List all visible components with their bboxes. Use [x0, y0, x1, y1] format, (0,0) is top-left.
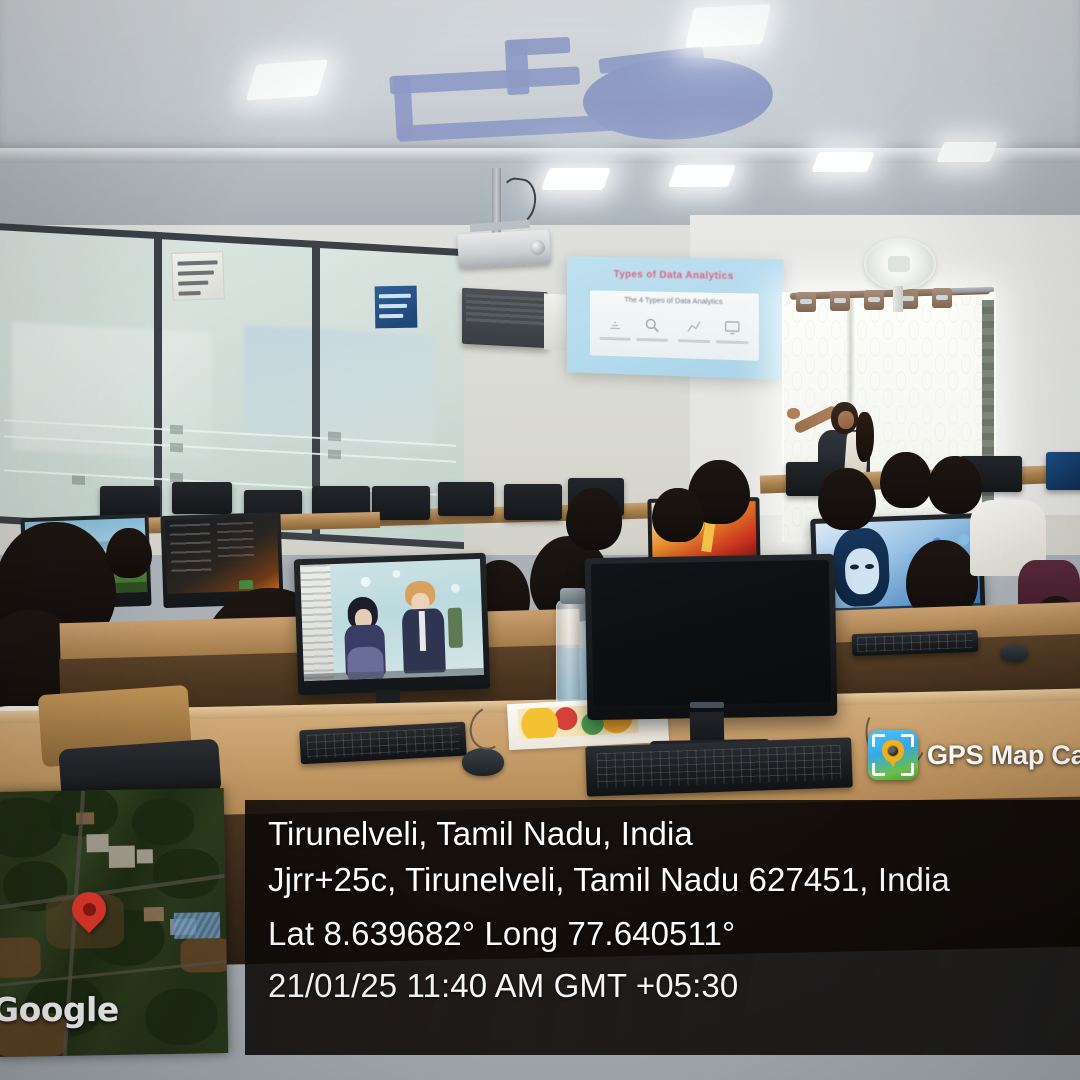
keyboard-keys	[596, 745, 842, 789]
gps-map-camera-watermark: GPS Map Came	[868, 730, 1080, 780]
slide-caption	[600, 337, 631, 341]
ceiling-light	[936, 142, 997, 162]
computer-mouse[interactable]	[462, 748, 504, 776]
monitor-icon	[724, 319, 740, 336]
poster-text-line	[379, 294, 411, 299]
monitor-screen-desktop	[165, 516, 280, 594]
computer-mouse[interactable]	[1000, 644, 1028, 662]
monitor-screen-off	[591, 560, 831, 706]
slide-caption	[716, 340, 749, 344]
ceiling-light	[668, 165, 736, 187]
curtain-grommet	[830, 291, 850, 311]
motif-bar	[508, 37, 571, 56]
wall-unit-vent	[466, 294, 544, 326]
ceiling-light	[811, 152, 874, 172]
overlay-coordinates-line: Lat 8.639682° Long 77.640511°	[268, 911, 1080, 957]
instructor-hand	[787, 408, 800, 419]
wall-poster	[375, 286, 418, 329]
back-monitor	[1046, 452, 1080, 490]
poster-text-line	[179, 291, 201, 296]
glass-frost-mark	[170, 425, 183, 435]
ceiling	[0, 0, 1080, 230]
instructor-face	[838, 411, 854, 429]
back-monitor	[372, 486, 430, 520]
glass-reflection	[244, 325, 434, 448]
back-monitor	[172, 482, 232, 514]
monitor-screen-anime-wallpaper	[300, 559, 484, 681]
frame-corner	[872, 763, 885, 776]
gps-map-camera-icon	[868, 730, 918, 780]
student-head	[106, 528, 152, 578]
slide-caption	[637, 338, 669, 342]
fan-hub	[888, 256, 910, 272]
glass-frost-mark	[170, 473, 183, 483]
slide-subtitle: The 4 Types of Data Analytics	[590, 294, 759, 307]
glass-frost-mark	[328, 450, 341, 460]
poster-text-line	[178, 270, 214, 275]
poster-text-line	[178, 281, 208, 286]
ceiling-light	[246, 60, 328, 101]
slide-content-card: The 4 Types of Data Analytics	[590, 290, 759, 360]
magnifier-icon	[644, 317, 660, 333]
glass-reflection	[12, 322, 212, 461]
ceiling-light	[541, 168, 611, 190]
student-head	[880, 452, 932, 508]
poster-text-line	[177, 260, 217, 265]
gps-info-overlay-text: Tirunelveli, Tamil Nadu, India Jjrr+25c,…	[268, 805, 1080, 1009]
back-monitor	[438, 482, 494, 516]
keyboard-keys	[857, 633, 973, 652]
bottle-cap	[560, 588, 586, 604]
back-monitor	[100, 486, 160, 518]
back-monitor	[504, 484, 562, 520]
projection-screen: Types of Data Analytics The 4 Types of D…	[567, 257, 783, 380]
camera-lens-icon	[887, 745, 899, 757]
overlay-location-line: Tirunelveli, Tamil Nadu, India	[268, 811, 1080, 857]
projector-lens	[530, 240, 545, 255]
student-head	[818, 468, 876, 530]
location-pin-center	[83, 903, 96, 916]
poster-text-line	[379, 304, 407, 308]
google-attribution: Google	[0, 990, 119, 1029]
glass-frost-mark	[170, 443, 183, 453]
curtain-grommet	[932, 288, 952, 308]
student-head	[566, 488, 622, 550]
keyboard[interactable]	[585, 737, 853, 796]
gps-map-camera-photo: Types of Data Analytics The 4 Types of D…	[0, 0, 1080, 1080]
wall-poster	[171, 251, 225, 301]
glass-frost-mark	[72, 475, 85, 485]
ceiling-light	[685, 4, 771, 48]
keyboard-keys	[306, 727, 460, 759]
instructor-hair	[856, 412, 874, 462]
slide-caption	[678, 339, 710, 343]
slide-icon	[607, 316, 623, 332]
fan-neck	[893, 286, 903, 312]
overlay-address-line: Jjrr+25c, Tirunelveli, Tamil Nadu 627451…	[268, 857, 1080, 903]
poster-text-line	[379, 314, 403, 318]
glass-frost-mark	[328, 432, 341, 442]
motif-bar	[393, 75, 413, 140]
motif-bar	[389, 66, 580, 94]
curtain-grommet	[796, 292, 816, 312]
curtain-grommet	[864, 290, 884, 310]
student-head	[928, 456, 982, 514]
overlay-datetime-line: 21/01/25 11:40 AM GMT +05:30	[268, 963, 1080, 1009]
monitor-brand-logo	[690, 702, 724, 708]
slide-icon	[686, 318, 702, 334]
frame-corner	[901, 763, 914, 776]
wall-unit-side-panel	[544, 293, 566, 350]
motif-bar	[398, 115, 614, 142]
watermark-label: GPS Map Came	[927, 740, 1080, 771]
student-head	[652, 488, 704, 542]
keyboard[interactable]	[852, 630, 979, 656]
